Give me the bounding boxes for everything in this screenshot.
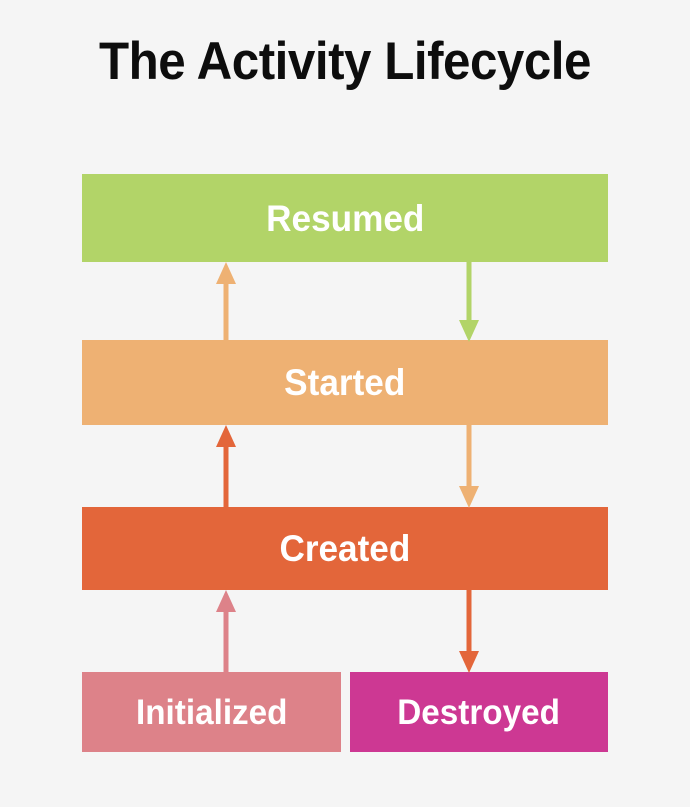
state-box-destroyed[interactable]: Destroyed (350, 672, 608, 752)
arrow-up-initialized-to-created-icon (214, 590, 238, 673)
state-label-resumed: Resumed (266, 200, 424, 237)
state-box-initialized[interactable]: Initialized (82, 672, 341, 752)
arrow-down-started-to-created-icon (457, 425, 481, 508)
diagram-canvas: The Activity Lifecycle Resumed Started C… (0, 0, 690, 807)
state-label-destroyed: Destroyed (398, 695, 561, 730)
state-box-started[interactable]: Started (82, 340, 608, 425)
state-box-resumed[interactable]: Resumed (82, 174, 608, 262)
arrow-up-created-to-started-icon (214, 425, 238, 508)
arrow-down-resumed-to-started-icon (457, 262, 481, 342)
state-label-created: Created (280, 530, 411, 567)
state-label-started: Started (284, 364, 405, 401)
state-label-initialized: Initialized (136, 695, 287, 730)
state-box-created[interactable]: Created (82, 507, 608, 590)
page-title: The Activity Lifecycle (24, 30, 666, 94)
arrow-up-started-to-resumed-icon (214, 262, 238, 342)
arrow-down-created-to-destroyed-icon (457, 590, 481, 673)
